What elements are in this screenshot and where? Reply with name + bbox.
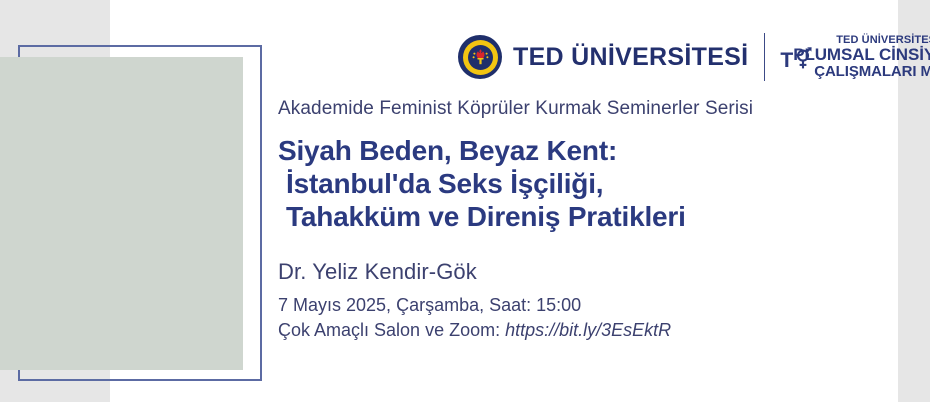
center-logo-text: TED ÜNİVERSİTESİ PLUMSAL CİNSİYET ÇALIŞM…: [814, 35, 930, 79]
ted-torch-seal-icon: [458, 35, 502, 79]
title-line-2: İstanbul'da Seks İşçiliği,: [286, 167, 898, 200]
event-datetime: 7 Mayıs 2025, Çarşamba, Saat: 15:00: [278, 295, 898, 316]
gender-studies-center-logo: T TED ÜNİVERSİTESİ PLUMSAL CİNSİYET ÇALI…: [780, 35, 930, 79]
venue-label: Çok Amaçlı Salon ve Zoom:: [278, 320, 505, 340]
seminar-poster: TED ÜNİVERSİTESİ T TED ÜNİVERSİTESİ PLUM…: [0, 0, 930, 402]
series-title: Akademide Feminist Köprüler Kurmak Semin…: [278, 98, 898, 120]
ted-seal-gold-ring: [463, 40, 498, 75]
title-line-3: Tahakküm ve Direniş Pratikleri: [286, 200, 898, 233]
header-logo-lockup: TED ÜNİVERSİTESİ T TED ÜNİVERSİTESİ PLUM…: [458, 30, 930, 84]
center-logo-leading-letter: T: [780, 50, 793, 71]
center-logo-big-line-2: ÇALIŞMALARI MERKEZİ: [814, 64, 930, 79]
torch-flame-icon: [468, 45, 493, 70]
page-title: Siyah Beden, Beyaz Kent: İstanbul'da Sek…: [278, 134, 898, 233]
event-venue: Çok Amaçlı Salon ve Zoom: https://bit.ly…: [278, 320, 898, 341]
speaker-photo: [0, 57, 243, 370]
zoom-link[interactable]: https://bit.ly/3EsEktR: [505, 320, 671, 340]
ted-seal-core: [468, 45, 493, 70]
poster-content: Akademide Feminist Köprüler Kurmak Semin…: [278, 98, 898, 341]
title-line-1: Siyah Beden, Beyaz Kent:: [278, 134, 898, 167]
vertical-divider-icon: [764, 33, 765, 81]
speaker-name: Dr. Yeliz Kendir-Gök: [278, 259, 898, 285]
speaker-photo-image: [0, 57, 243, 370]
ted-wordmark: TED ÜNİVERSİTESİ: [513, 43, 748, 72]
center-logo-big-line-1: PLUMSAL CİNSİYET: [793, 46, 930, 63]
